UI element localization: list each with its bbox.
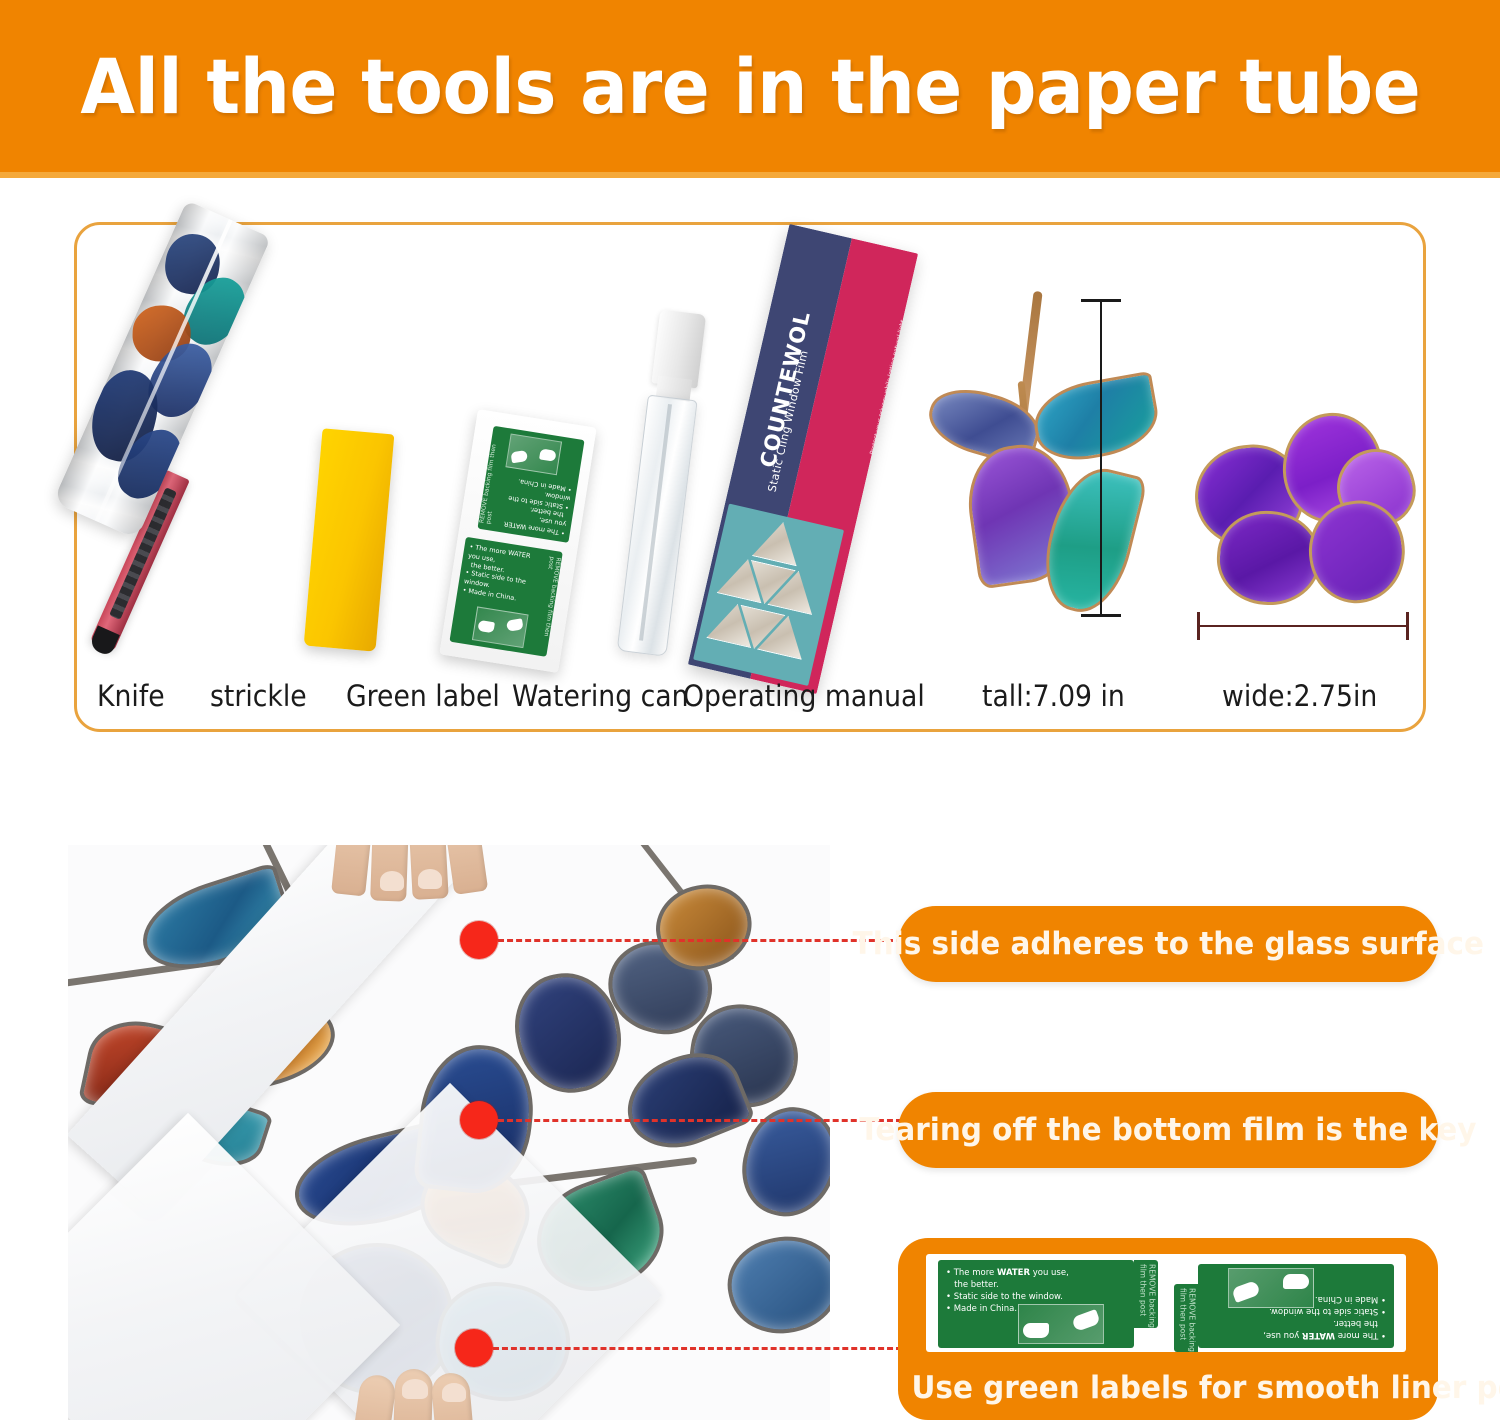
page-title: All the tools are in the paper tube [80, 42, 1420, 131]
callout-tearing-label: Tearing off the bottom film is the key [859, 1112, 1476, 1148]
callout-adheres-label: This side adheres to the glass surface [852, 926, 1483, 962]
callout-tearing[interactable]: Tearing off the bottom film is the key [898, 1092, 1438, 1168]
leader-line-2 [498, 1119, 902, 1122]
peel-hands-icon [1018, 1304, 1104, 1344]
peel-hands-icon [505, 434, 562, 476]
green-label-photo: REMOVE backing film then post • The more… [926, 1254, 1406, 1352]
tool-label-spray: Watering can [512, 679, 689, 713]
tool-label-manual: Operating manual [683, 679, 925, 713]
leader-line-1 [498, 939, 902, 942]
tools-card: • The more WATER you use, the better. • … [74, 222, 1426, 732]
callout-green-label-panel[interactable]: REMOVE backing film then post • The more… [898, 1238, 1438, 1420]
tools-stage: • The more WATER you use, the better. • … [77, 225, 1423, 665]
dimension-label-wide: wide:2.75in [1222, 679, 1377, 713]
marker-dot-1 [460, 921, 498, 959]
leader-line-3 [493, 1347, 902, 1350]
callout-green-label-caption: Use green labels for smooth liner peelin… [912, 1370, 1425, 1406]
peel-hands-icon [1228, 1268, 1314, 1308]
dimension-label-tall: tall:7.09 in [982, 679, 1125, 713]
peel-hands-icon [472, 606, 529, 648]
green-label-back: • The more WATER you use, the better. • … [1198, 1264, 1394, 1348]
tool-label-knife: Knife [97, 679, 165, 713]
header-underline [0, 172, 1500, 178]
tool-label-green: Green label [346, 679, 500, 713]
green-label-icon: • The more WATER you use, the better. • … [439, 409, 596, 673]
page-header: All the tools are in the paper tube [0, 0, 1500, 172]
tool-label-strickle: strickle [210, 679, 307, 713]
width-measure-line [1197, 625, 1409, 627]
leaf-decal-icon [922, 285, 1152, 645]
knife-tip [88, 625, 120, 657]
marker-dot-2 [460, 1101, 498, 1139]
height-measure-line [1100, 299, 1102, 617]
flower-decal-icon [1187, 393, 1417, 643]
callout-adheres[interactable]: This side adheres to the glass surface [898, 906, 1438, 982]
marker-dot-3 [455, 1329, 493, 1367]
green-label-front: • The more WATER you use, the better. • … [938, 1260, 1134, 1348]
tools-label-row: Knife strickle Green label Watering can … [77, 667, 1423, 713]
film-peeling-photo [68, 845, 830, 1420]
manual-booklet-icon: COUNTEWOL Static Cling Window Film Prote… [688, 224, 918, 694]
